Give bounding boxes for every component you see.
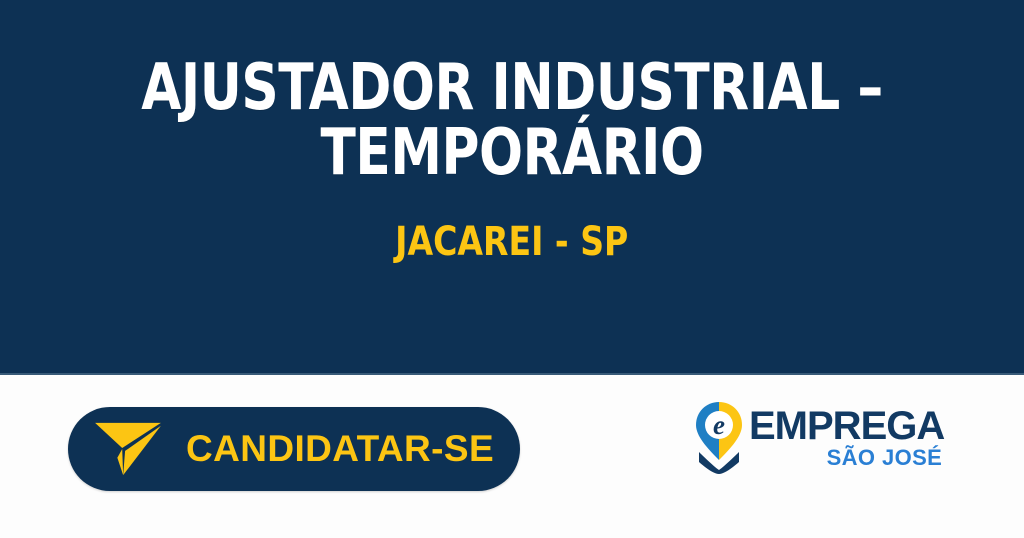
page-title: AJUSTADOR INDUSTRIAL – TEMPORÁRIO (88, 56, 936, 187)
job-location: JACAREI - SP (395, 187, 628, 263)
brand-tagline: SÃO JOSÉ (827, 447, 943, 469)
apply-button-label: CANDIDATAR-SE (186, 428, 494, 470)
brand-name: EMPREGA (749, 407, 944, 445)
send-paper-plane-icon (92, 419, 164, 479)
hero-banner: AJUSTADOR INDUSTRIAL – TEMPORÁRIO JACARE… (0, 0, 1024, 375)
map-pin-e-icon: e (693, 400, 745, 476)
svg-text:e: e (713, 410, 725, 440)
brand-wordmark: EMPREGA SÃO JOSÉ (749, 407, 944, 469)
apply-button[interactable]: CANDIDATAR-SE (68, 407, 520, 491)
job-posting-card: AJUSTADOR INDUSTRIAL – TEMPORÁRIO JACARE… (0, 0, 1024, 538)
footer-bar: CANDIDATAR-SE e EMPREGA SÃO JOSÉ (0, 375, 1024, 538)
brand-logo: e EMPREGA SÃO JOSÉ (693, 397, 908, 479)
